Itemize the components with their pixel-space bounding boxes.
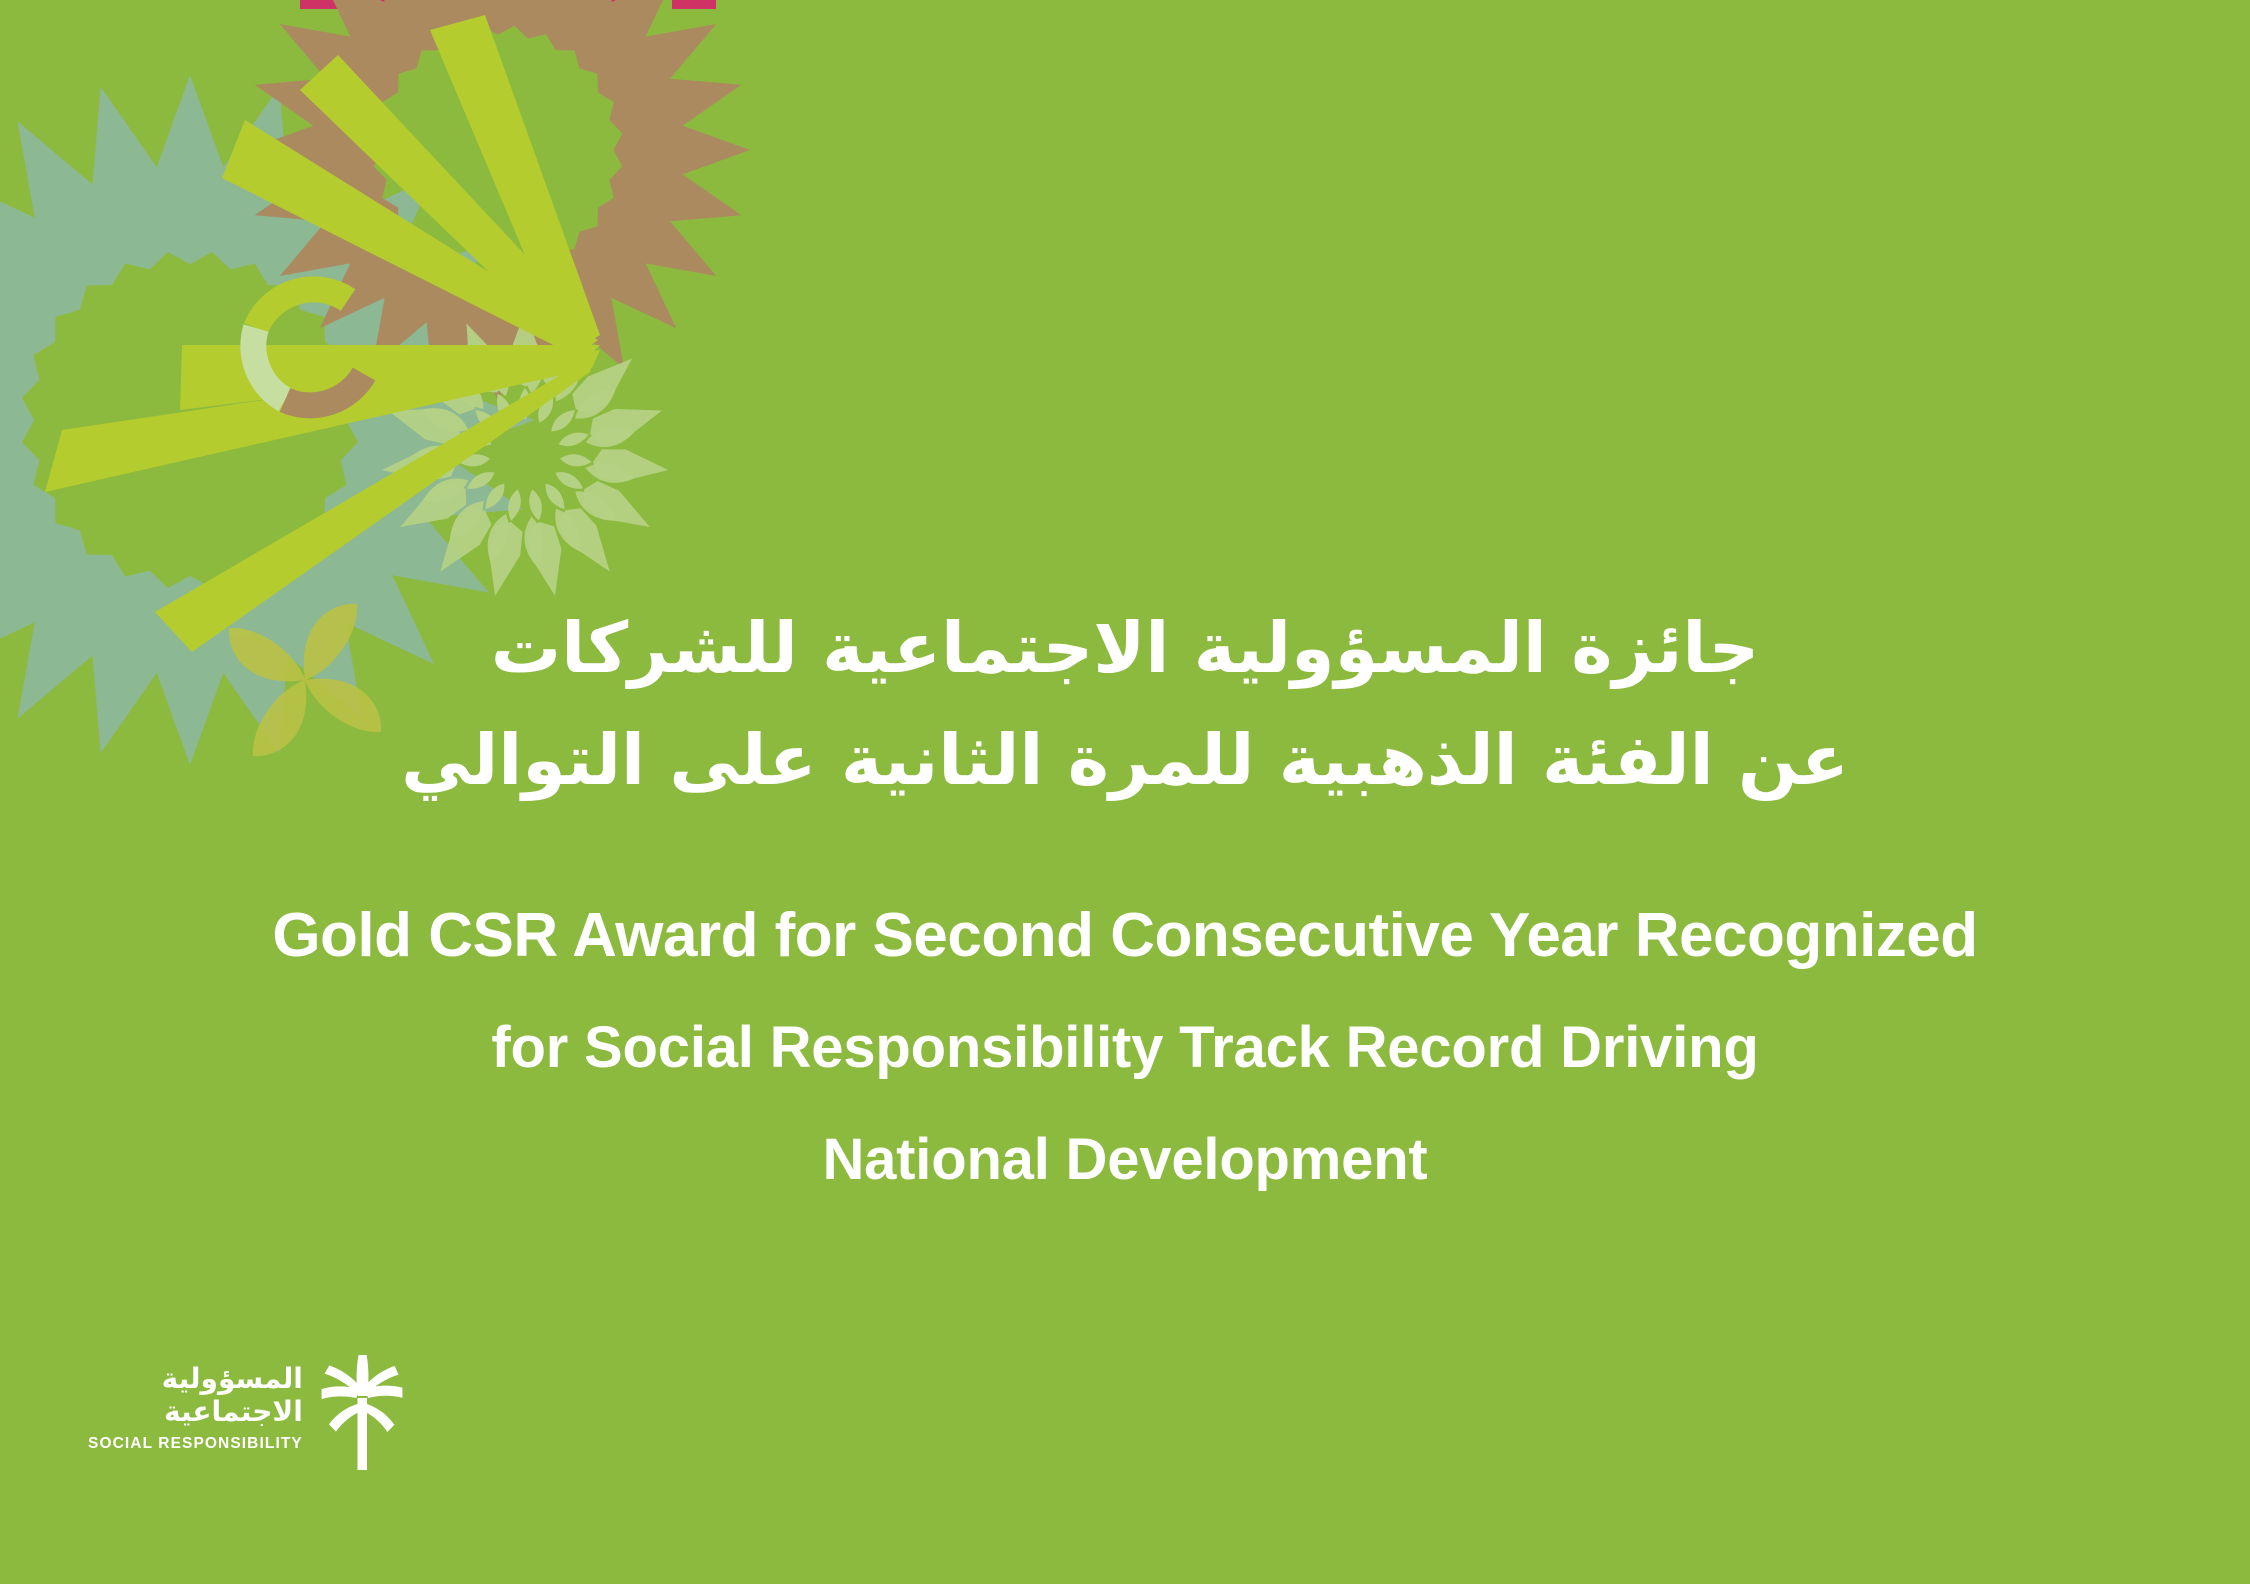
content-layer: جائزة المسؤولية الاجتماعية للشركات عن ال…	[0, 0, 2250, 1584]
logo-english-label: SOCIAL RESPONSIBILITY	[88, 1434, 303, 1454]
logo-arabic-line-1: المسؤولية	[162, 1362, 303, 1395]
english-headline-line-2: for Social Responsibility Track Record D…	[0, 992, 2250, 1104]
arabic-headline-line-2: عن الفئة الذهبية للمرة الثانية على التوا…	[0, 704, 2250, 816]
english-headline: Gold CSR Award for Second Consecutive Ye…	[0, 880, 2250, 1216]
logo-wordmark: المسؤولية الاجتماعية SOCIAL RESPONSIBILI…	[88, 1340, 303, 1476]
arabic-headline: جائزة المسؤولية الاجتماعية للشركات عن ال…	[0, 592, 2250, 816]
english-headline-line-3: National Development	[0, 1104, 2250, 1216]
social-responsibility-logo: المسؤولية الاجتماعية SOCIAL RESPONSIBILI…	[88, 1340, 388, 1476]
palm-tree-mark	[321, 1346, 403, 1470]
logo-arabic-line-2: الاجتماعية	[164, 1395, 303, 1428]
arabic-headline-line-1: جائزة المسؤولية الاجتماعية للشركات	[0, 592, 2250, 704]
english-headline-line-1: Gold CSR Award for Second Consecutive Ye…	[0, 880, 2250, 992]
poster-canvas: جائزة المسؤولية الاجتماعية للشركات عن ال…	[0, 0, 2250, 1584]
